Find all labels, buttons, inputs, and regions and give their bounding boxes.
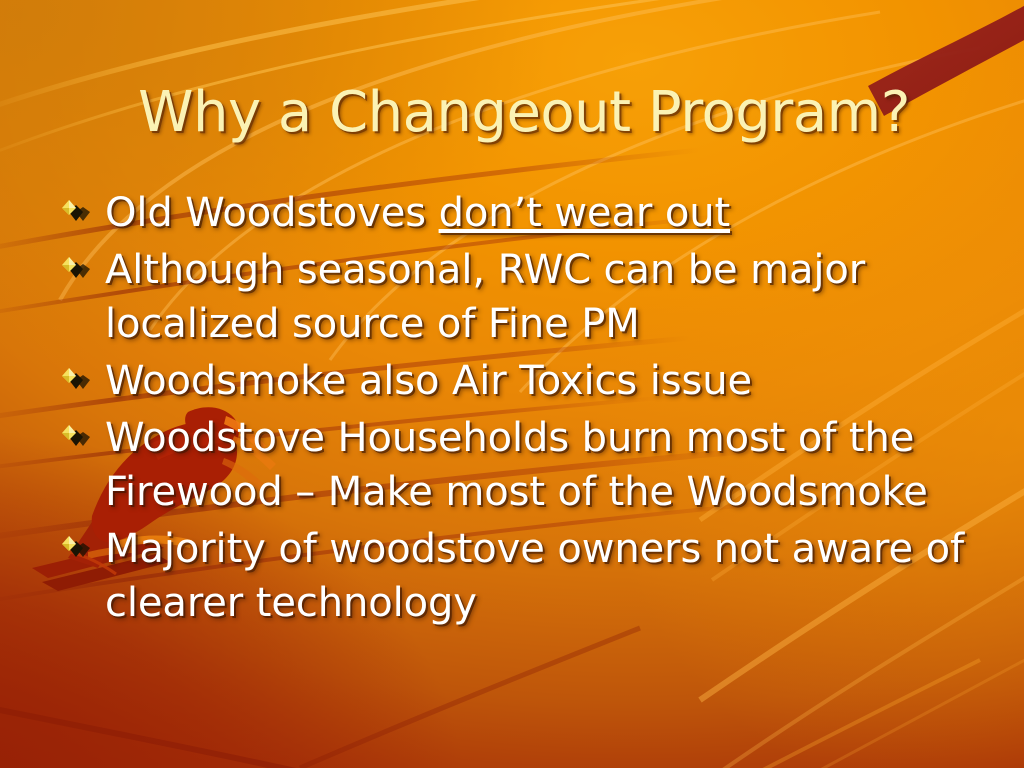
list-item: Woodsmoke also Air Toxics issue — [56, 354, 986, 408]
list-item-text-plain: Old Woodstoves — [105, 190, 439, 236]
list-item-label: Old Woodstoves don’t wear out — [105, 190, 730, 236]
list-item-text-underlined: don’t wear out — [439, 190, 730, 236]
gold-diamond-bullet-icon — [60, 195, 90, 225]
gold-diamond-bullet-icon — [60, 252, 90, 282]
gold-diamond-bullet-icon — [60, 531, 90, 561]
list-item-label: Although seasonal, RWC can be major loca… — [105, 247, 865, 347]
gold-diamond-bullet-icon — [60, 420, 90, 450]
slide-title: Why a Changeout Program? — [0, 82, 1024, 144]
list-item-label: Woodsmoke also Air Toxics issue — [105, 358, 752, 404]
list-item: Woodstove Households burn most of the Fi… — [56, 411, 986, 519]
gold-diamond-bullet-icon — [60, 363, 90, 393]
list-item: Majority of woodstove owners not aware o… — [56, 522, 986, 630]
list-item: Old Woodstoves don’t wear out — [56, 186, 986, 240]
list-item: Although seasonal, RWC can be major loca… — [56, 243, 986, 351]
list-item-label: Woodstove Households burn most of the Fi… — [105, 415, 928, 515]
list-item-label: Majority of woodstove owners not aware o… — [105, 526, 964, 626]
slide-canvas: Why a Changeout Program? Old Woodstoves … — [0, 0, 1024, 768]
slide-body-bullet-list: Old Woodstoves don’t wear out Although s… — [56, 186, 986, 633]
